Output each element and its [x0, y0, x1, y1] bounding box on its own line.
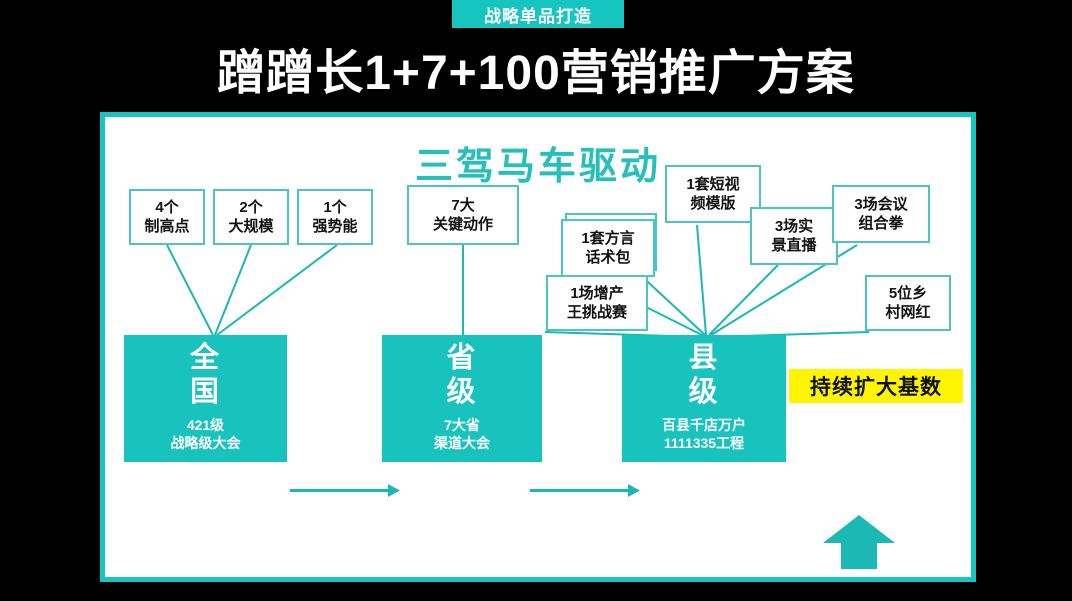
chip-dialect-script[interactable]: 1套方言 话术包: [561, 219, 655, 277]
chip-live-stream-line1: 3场实: [775, 217, 813, 236]
level-province-char1: 省: [446, 342, 477, 374]
chip-meeting-combo[interactable]: 3场会议 组合拳: [832, 185, 930, 243]
level-county-char2: 级: [688, 376, 719, 408]
level-county-subtitle: 百县千店万户 1111335工程: [662, 416, 746, 452]
level-national-sub2: 战略级大会: [171, 435, 241, 451]
line-video-to-county: [697, 225, 706, 335]
chip-7-actions-line2: 关键动作: [433, 215, 493, 234]
chip-1-momentum[interactable]: 1个 强势能: [297, 189, 373, 245]
page-title: 蹭蹭长1+7+100营销推广方案: [0, 44, 1072, 104]
level-national-title: 全 国: [190, 341, 221, 409]
up-arrow-icon: [823, 515, 895, 569]
arrow-national-to-province-shaft: [290, 489, 388, 492]
chip-dialect-script-line1: 1套方言: [581, 229, 634, 248]
level-province-char2: 级: [446, 376, 477, 408]
arrow-province-to-county-shaft: [530, 489, 628, 492]
level-province-sub1: 7大省: [444, 417, 480, 433]
level-national-char1: 全: [190, 342, 221, 374]
chip-1-momentum-line1: 1个: [323, 198, 346, 217]
level-national[interactable]: 全 国 421级 战略级大会: [124, 335, 287, 462]
chip-7-actions[interactable]: 7大 关键动作: [407, 185, 519, 245]
chip-dialect-script-line2: 话术包: [585, 248, 630, 267]
line-scale-to-national: [215, 245, 251, 335]
level-province[interactable]: 省 级 7大省 渠道大会: [382, 335, 542, 462]
panel-heading: 三驾马车驱动: [105, 135, 971, 190]
level-county[interactable]: 县 级 百县千店万户 1111335工程: [622, 335, 786, 462]
slide-root: 战略单品打造 蹭蹭长1+7+100营销推广方案 三驾马车驱动: [0, 0, 1072, 601]
chip-4-peaks[interactable]: 4个 制高点: [129, 189, 205, 245]
line-momentum-to-national: [217, 245, 337, 335]
chip-2-scale[interactable]: 2个 大规模: [213, 189, 289, 245]
chip-meeting-combo-line1: 3场会议: [854, 195, 907, 214]
level-county-title: 县 级: [688, 341, 719, 409]
content-panel: 三驾马车驱动: [100, 112, 976, 582]
chip-live-stream[interactable]: 3场实 景直播: [750, 207, 838, 265]
callout-label: 持续扩大基数: [810, 371, 942, 401]
arrow-province-to-county-head: [628, 484, 640, 497]
chip-7-actions-line1: 7大: [451, 196, 474, 215]
chip-4-peaks-line2: 制高点: [144, 217, 189, 236]
chip-short-video[interactable]: 1套短视 频模版: [665, 165, 761, 223]
arrow-national-to-province-head: [388, 484, 400, 497]
ribbon-label: 战略单品打造: [484, 2, 592, 27]
chip-rural-influencer-line2: 村网红: [885, 303, 930, 322]
chip-yield-contest-line2: 王挑战赛: [567, 303, 627, 322]
ribbon-banner: 战略单品打造: [452, 0, 624, 28]
chip-short-video-line2: 频模版: [690, 194, 735, 213]
level-county-sub2: 1111335工程: [664, 435, 744, 451]
line-peaks-to-national: [167, 245, 213, 335]
line-live-to-county: [709, 265, 778, 335]
chip-4-peaks-line1: 4个: [155, 198, 178, 217]
level-province-subtitle: 7大省 渠道大会: [434, 416, 490, 452]
chip-yield-contest[interactable]: 1场增产 王挑战赛: [546, 275, 648, 331]
chip-meeting-combo-line2: 组合拳: [858, 214, 903, 233]
panel-inner: 三驾马车驱动: [105, 117, 971, 577]
chip-2-scale-line2: 大规模: [228, 217, 273, 236]
level-province-sub2: 渠道大会: [434, 435, 490, 451]
callout-expand-base[interactable]: 持续扩大基数: [789, 369, 963, 403]
level-province-title: 省 级: [446, 341, 477, 409]
chip-rural-influencer-line1: 5位乡: [889, 284, 927, 303]
chip-live-stream-line2: 景直播: [771, 236, 816, 255]
level-national-subtitle: 421级 战略级大会: [171, 416, 241, 452]
chip-1-momentum-line2: 强势能: [312, 217, 357, 236]
level-county-char1: 县: [688, 342, 719, 374]
chip-yield-contest-line1: 1场增产: [570, 284, 623, 303]
level-county-sub1: 百县千店万户: [662, 417, 746, 433]
chip-short-video-line1: 1套短视: [686, 175, 739, 194]
chip-2-scale-line1: 2个: [239, 198, 262, 217]
chip-rural-influencer[interactable]: 5位乡 村网红: [865, 275, 951, 331]
level-national-char2: 国: [190, 376, 221, 408]
level-national-sub1: 421级: [187, 417, 224, 433]
